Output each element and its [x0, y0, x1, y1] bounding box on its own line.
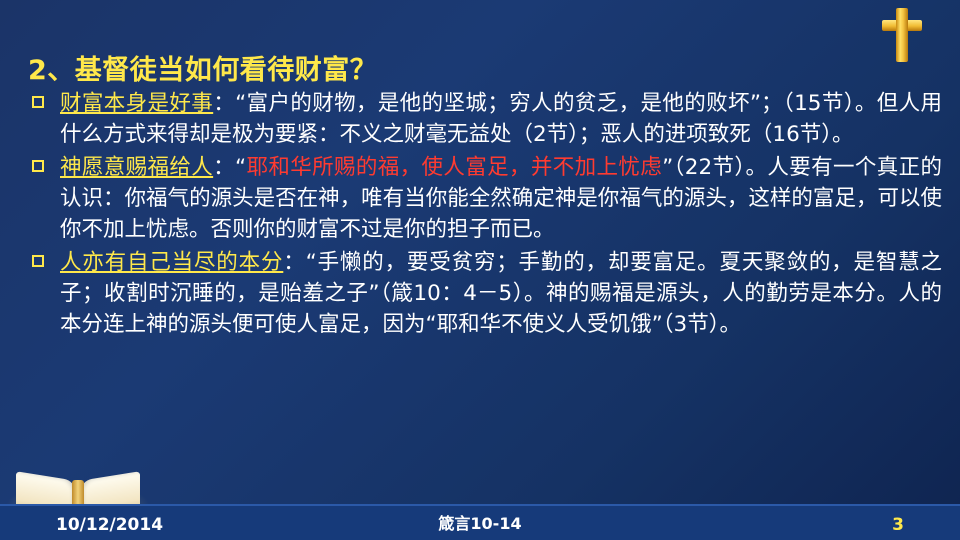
list-item: 财富本身是好事：“富户的财物，是他的坚城；穷人的贫乏，是他的败坏”；（15节）。…	[26, 88, 942, 150]
slide-footer: 10/12/2014 箴言10-14 3	[0, 504, 960, 540]
bullet-square-icon	[32, 160, 44, 172]
bullet-text-1: 财富本身是好事：“富户的财物，是他的坚城；穷人的贫乏，是他的败坏”；（15节）。…	[26, 88, 942, 150]
bullet-keyword-3: 人亦有自己当尽的本分	[60, 250, 283, 275]
cross-icon	[882, 8, 922, 62]
footer-page-number: 3	[892, 515, 904, 535]
bullet-body-2a: ：“	[213, 155, 246, 180]
slide: 2、基督徒当如何看待财富？ 财富本身是好事：“富户的财物，是他的坚城；穷人的贫乏…	[0, 0, 960, 540]
bullet-keyword-2: 神愿意赐福给人	[60, 155, 213, 180]
list-item: 神愿意赐福给人：“耶和华所赐的福，使人富足，并不加上忧虑”（22节）。人要有一个…	[26, 152, 942, 245]
bullet-text-3: 人亦有自己当尽的本分：“手懒的，要受贫穷；手勤的，却要富足。夏天聚敛的，是智慧之…	[26, 247, 942, 340]
bullet-red-quote-2: 耶和华所赐的福，使人富足，并不加上忧虑	[246, 155, 662, 180]
bullet-text-2: 神愿意赐福给人：“耶和华所赐的福，使人富足，并不加上忧虑”（22节）。人要有一个…	[26, 152, 942, 245]
bullet-keyword-1: 财富本身是好事	[60, 91, 213, 116]
cross-vertical-bar	[896, 8, 908, 62]
bullet-square-icon	[32, 255, 44, 267]
list-item: 人亦有自己当尽的本分：“手懒的，要受贫穷；手勤的，却要富足。夏天聚敛的，是智慧之…	[26, 247, 942, 340]
bullet-square-icon	[32, 96, 44, 108]
slide-body: 财富本身是好事：“富户的财物，是他的坚城；穷人的贫乏，是他的败坏”；（15节）。…	[26, 88, 942, 342]
slide-title: 2、基督徒当如何看待财富？	[28, 48, 377, 87]
footer-reference: 箴言10-14	[0, 510, 960, 534]
